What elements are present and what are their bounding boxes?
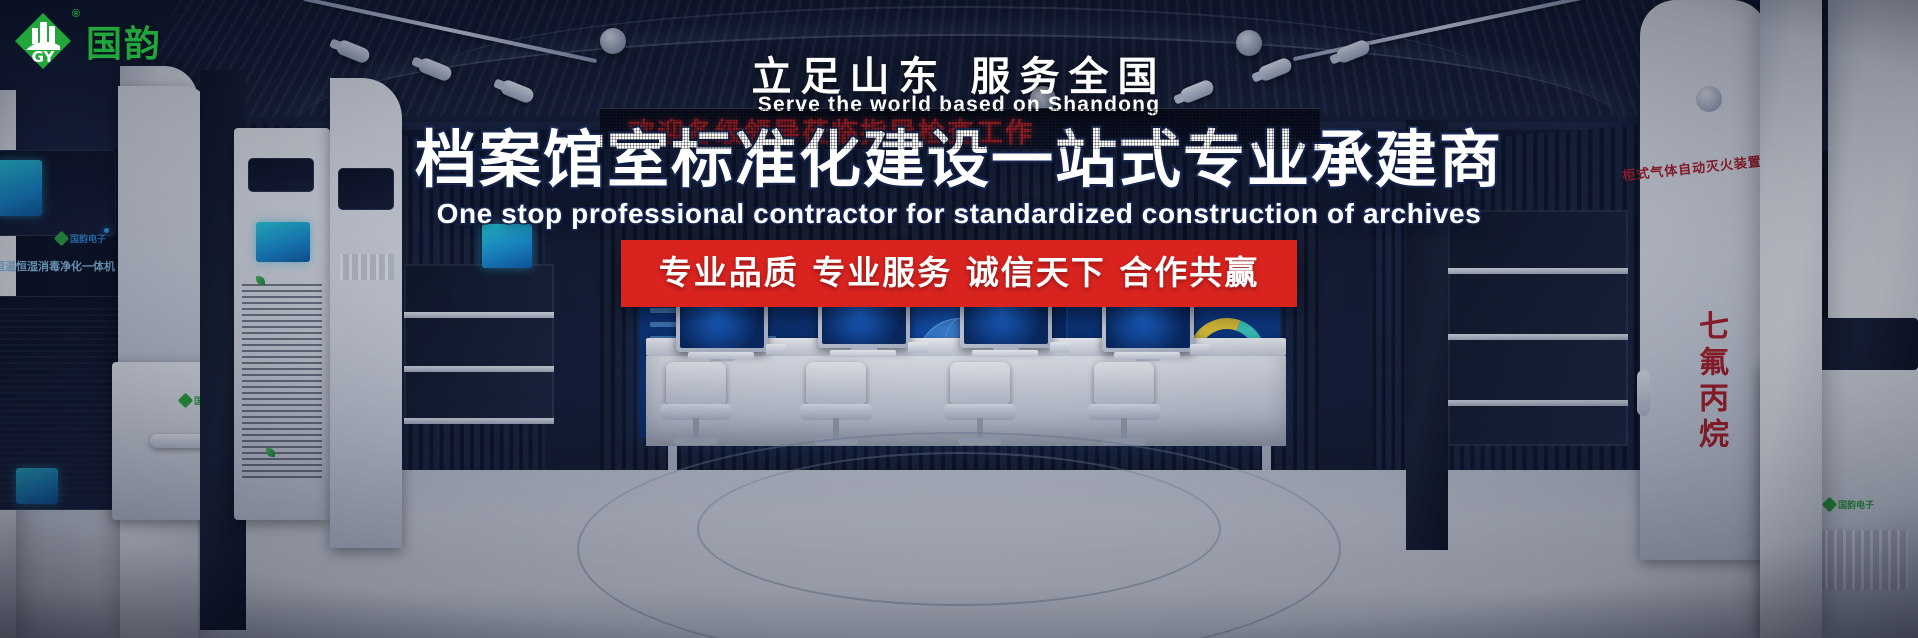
registered-trademark-icon: ® xyxy=(72,8,80,20)
hero-banner: 欢迎各级领导莅临指导检查工作 档案管理业务平台 智慧档案数据可视化平台 xyxy=(0,0,1918,638)
slogan-cta-button[interactable]: 专业品质 专业服务 诚信天下 合作共赢 xyxy=(621,240,1297,307)
cta-container: 专业品质 专业服务 诚信天下 合作共赢 xyxy=(0,240,1918,307)
page-subtitle: One stop professional contractor for sta… xyxy=(0,198,1918,230)
page-title: 档案馆室标准化建设一站式专业承建商 xyxy=(0,126,1918,194)
hero-text-overlay: GY ® 国韵 立足山东 服务全国 Serve the world based … xyxy=(0,0,1918,638)
tagline-en: Serve the world based on Shandong xyxy=(0,93,1918,117)
